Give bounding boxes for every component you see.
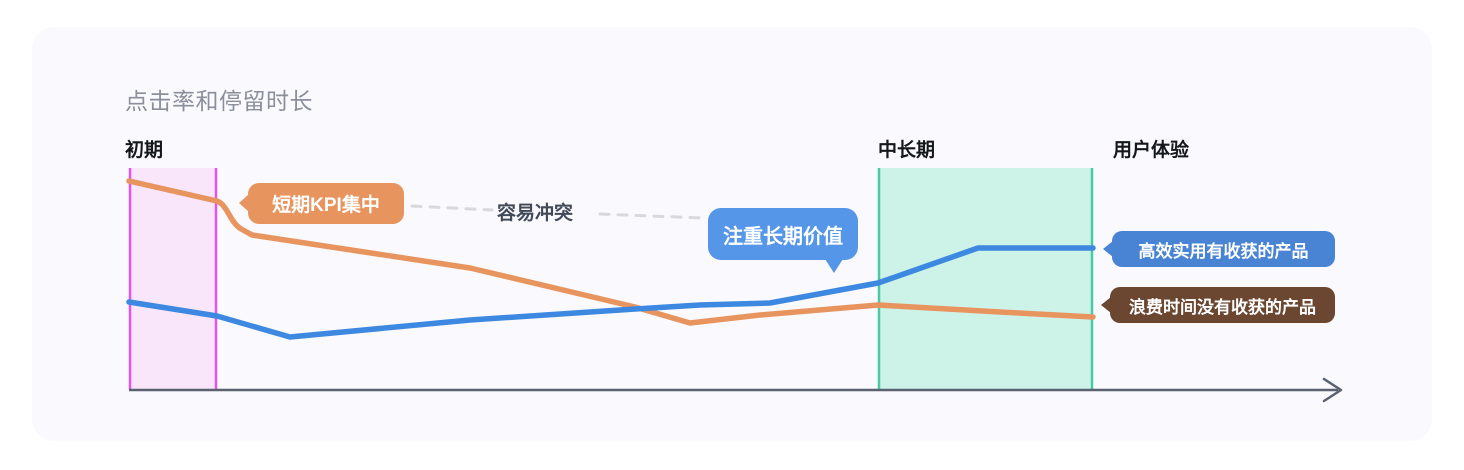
callout-bad-product-label: 浪费时间没有收获的产品 (1129, 293, 1316, 318)
callout-longterm-label: 注重长期价值 (723, 220, 843, 249)
callout-kpi[interactable]: 短期KPI集中 (248, 183, 404, 224)
callout-tail-icon (1103, 241, 1113, 257)
callout-good-product[interactable]: 高效实用有收获的产品 (1112, 231, 1335, 267)
callout-tail-icon (239, 194, 249, 212)
callout-longterm[interactable]: 注重长期价值 (708, 208, 858, 260)
band-region-early (129, 168, 217, 390)
band-region-mid (878, 168, 1093, 390)
callout-good-product-label: 高效实用有收获的产品 (1139, 237, 1309, 262)
callout-conflict-label: 容易冲突 (497, 198, 573, 225)
callout-bad-product[interactable]: 浪费时间没有收获的产品 (1110, 287, 1335, 323)
callout-tail-icon (825, 259, 843, 273)
dashed-connector-left (412, 206, 492, 210)
dashed-connector-right (600, 214, 703, 218)
callout-tail-icon (1101, 297, 1111, 313)
callout-kpi-label: 短期KPI集中 (272, 190, 380, 217)
